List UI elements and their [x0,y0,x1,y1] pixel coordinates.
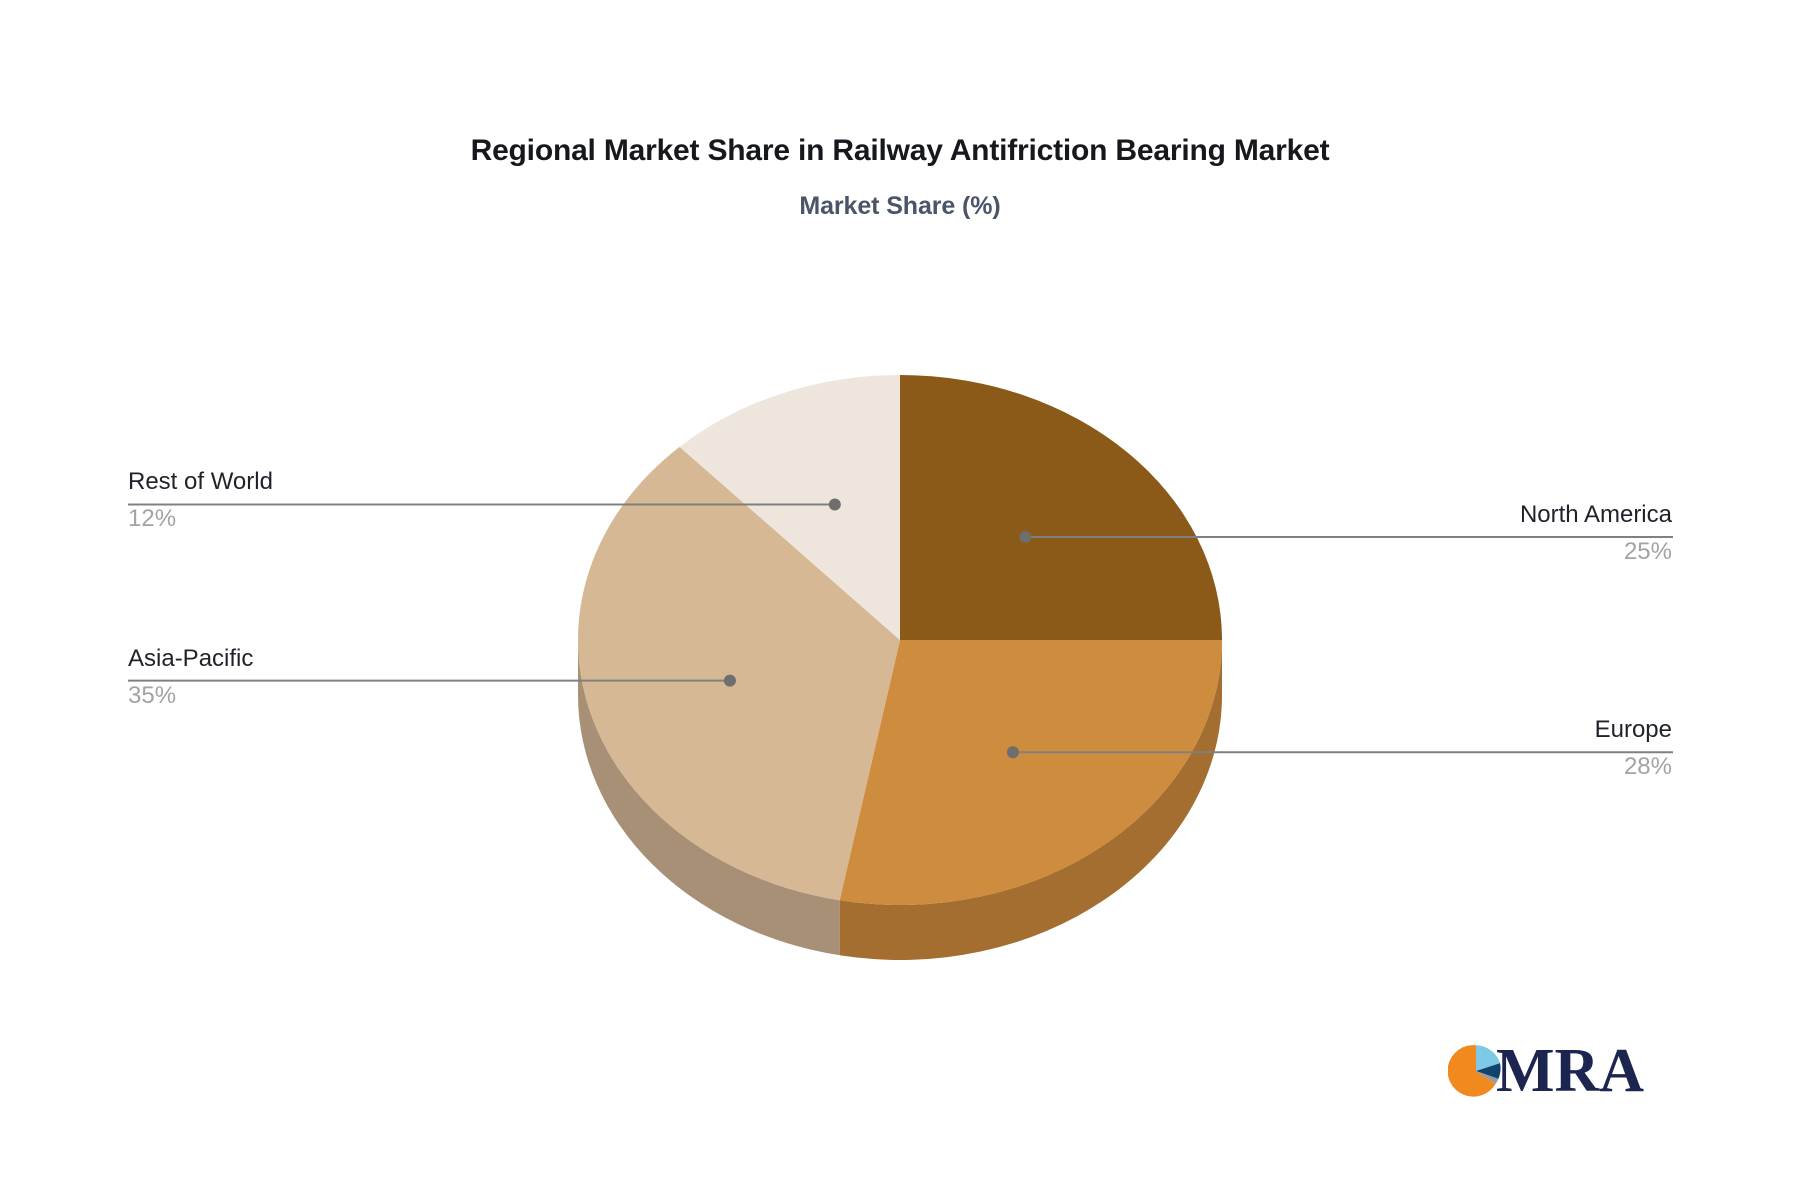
chart-canvas: Regional Market Share in Railway Antifri… [0,0,1800,1196]
leader-dot-rest-of-world [829,498,841,510]
pie-label-north-america-category: North America [1272,500,1672,530]
brand-logo: MRA [1448,1032,1648,1110]
pie-label-rest-of-world-category: Rest of World [128,467,528,497]
leader-dot-europe [1007,746,1019,758]
pie-label-rest-of-world: Rest of World 12% [128,467,528,534]
pie-label-north-america-value: 25% [1272,530,1672,567]
pie-label-europe: Europe 28% [1272,715,1672,782]
pie-slice-europe[interactable] [840,640,1222,905]
pie-label-asia-pacific: Asia-Pacific 35% [128,644,528,711]
pie-label-europe-value: 28% [1272,745,1672,782]
pie-label-rest-of-world-value: 12% [128,497,528,534]
leader-dot-north-america [1019,531,1031,543]
pie-label-asia-pacific-category: Asia-Pacific [128,644,528,674]
leader-dot-asia-pacific [724,675,736,687]
pie-label-asia-pacific-value: 35% [128,674,528,711]
pie-label-north-america: North America 25% [1272,500,1672,567]
pie-chart [0,0,1800,1196]
pie-top-face [578,375,1222,905]
brand-wordmark: MRA [1496,1040,1644,1102]
pie-label-europe-category: Europe [1272,715,1672,745]
pie-slice-north-america[interactable] [900,375,1222,640]
